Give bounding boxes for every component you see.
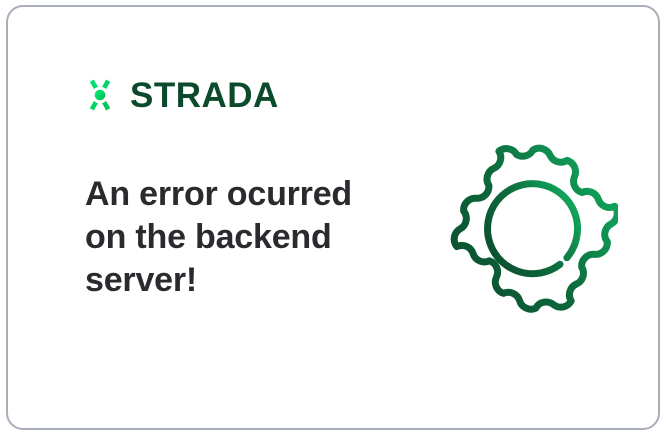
brand-lockup: STRADA	[80, 75, 279, 115]
app-screen: STRADA An error ocurred on the backend s…	[0, 0, 666, 436]
error-message: An error ocurred on the backend server!	[85, 173, 375, 302]
strada-asterisk-icon	[80, 75, 120, 115]
error-card: STRADA An error ocurred on the backend s…	[6, 5, 660, 430]
brand-name: STRADA	[130, 78, 279, 113]
gear-cog-icon	[448, 143, 618, 313]
